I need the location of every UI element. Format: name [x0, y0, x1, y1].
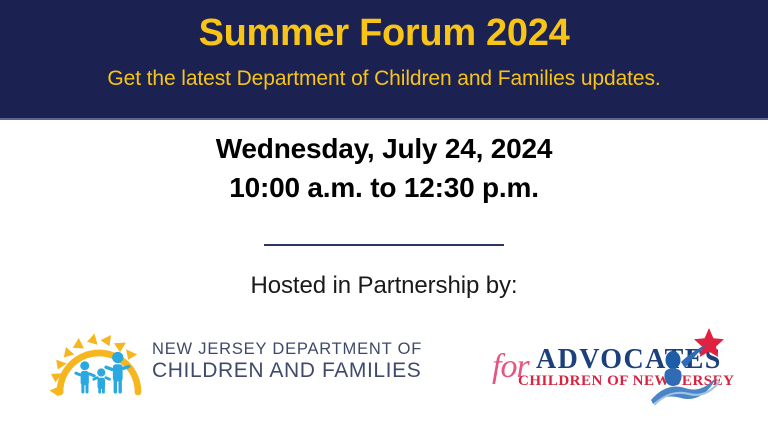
event-flyer: Summer Forum 2024 Get the latest Departm…	[0, 0, 768, 432]
logo-advocates-children-nj: for ADVOCATES CHILDREN OF NEW JERSEY	[492, 328, 722, 410]
reaching-figure-star-icon	[647, 324, 725, 406]
sun-and-family-icon	[48, 326, 144, 398]
dcf-wordmark-line1: NEW JERSEY DEPARTMENT OF	[152, 339, 422, 359]
divider-container	[0, 244, 768, 246]
dcf-wordmark-line2: CHILDREN AND FAMILIES	[152, 359, 422, 384]
dcf-wordmark: NEW JERSEY DEPARTMENT OF CHILDREN AND FA…	[152, 339, 422, 386]
logo-nj-dcf: NEW JERSEY DEPARTMENT OF CHILDREN AND FA…	[48, 326, 422, 398]
header-banner: Summer Forum 2024 Get the latest Departm…	[0, 0, 768, 120]
partner-logos: NEW JERSEY DEPARTMENT OF CHILDREN AND FA…	[0, 322, 768, 420]
page-subtitle: Get the latest Department of Children an…	[107, 67, 660, 90]
section-divider	[264, 244, 504, 246]
event-date: Wednesday, July 24, 2024	[0, 130, 768, 169]
event-details: Wednesday, July 24, 2024 10:00 a.m. to 1…	[0, 130, 768, 207]
event-time: 10:00 a.m. to 12:30 p.m.	[0, 169, 768, 208]
hosted-by-label: Hosted in Partnership by:	[0, 272, 768, 300]
page-title: Summer Forum 2024	[199, 14, 570, 54]
